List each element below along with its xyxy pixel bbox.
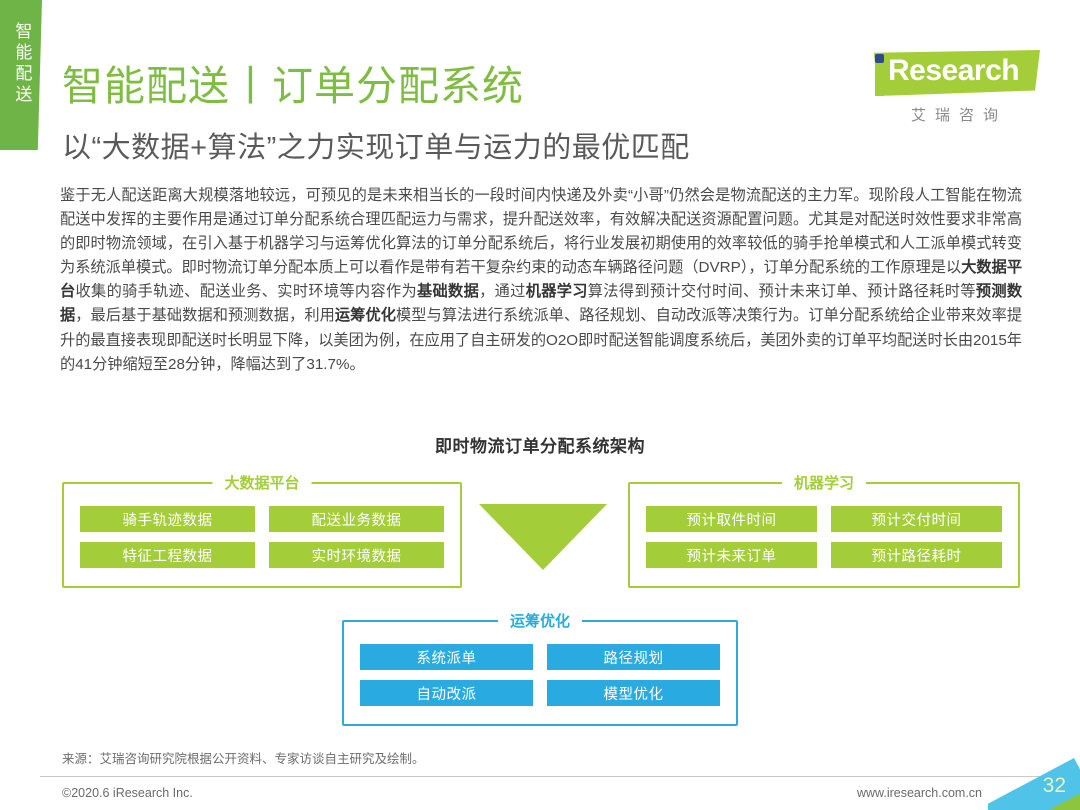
chip-item[interactable]: 模型优化 — [547, 680, 720, 706]
page-subtitle: 以“大数据+算法”之力实现订单与运力的最优匹配 — [62, 124, 690, 166]
logo-wordmark: Research — [888, 54, 1019, 88]
page-number: 32 — [1043, 774, 1066, 798]
iresearch-logo: Research 艾瑞咨询 — [844, 48, 1044, 125]
chip-item[interactable]: 实时环境数据 — [269, 542, 444, 568]
logo-mark: Research — [844, 48, 1040, 100]
chip-item[interactable]: 配送业务数据 — [269, 506, 444, 532]
chip-item[interactable]: 预计交付时间 — [831, 506, 1002, 532]
group-operations-optimization: 运筹优化 系统派单 路径规划 自动改派 模型优化 — [342, 620, 738, 726]
body-paragraph: 鉴于无人配送距离大规模落地较远，可预见的是未来相当长的一段时间内快递及外卖“小哥… — [60, 184, 1022, 377]
logo-letter-i-dot — [875, 54, 884, 63]
architecture-diagram: 大数据平台 骑手轨迹数据 配送业务数据 特征工程数据 实时环境数据 机器学习 预… — [0, 468, 1080, 740]
chip-item[interactable]: 自动改派 — [360, 680, 533, 706]
section-tab-label: 智能配送 — [12, 22, 31, 106]
chip-list-big-data-platform: 骑手轨迹数据 配送业务数据 特征工程数据 实时环境数据 — [80, 506, 444, 568]
footer-divider — [40, 776, 1040, 777]
logo-chinese-name: 艾瑞咨询 — [844, 104, 1044, 125]
down-arrow-icon — [479, 504, 607, 570]
chip-item[interactable]: 预计未来订单 — [646, 542, 817, 568]
group-label-machine-learning: 机器学习 — [782, 472, 866, 493]
chip-list-machine-learning: 预计取件时间 预计交付时间 预计未来订单 预计路径耗时 — [646, 506, 1002, 568]
chip-item[interactable]: 系统派单 — [360, 644, 533, 670]
chip-item[interactable]: 骑手轨迹数据 — [80, 506, 255, 532]
group-label-operations-optimization: 运筹优化 — [498, 610, 582, 631]
page-title: 智能配送丨订单分配系统 — [62, 52, 524, 112]
group-machine-learning: 机器学习 预计取件时间 预计交付时间 预计未来订单 预计路径耗时 — [628, 482, 1020, 588]
group-label-big-data-platform: 大数据平台 — [212, 472, 311, 493]
chip-item[interactable]: 特征工程数据 — [80, 542, 255, 568]
section-tab: 智能配送 — [0, 0, 42, 150]
source-note: 来源：艾瑞咨询研究院根据公开资料、专家访谈自主研究及绘制。 — [62, 748, 425, 767]
website-url[interactable]: www.iresearch.com.cn — [857, 786, 982, 800]
chip-item[interactable]: 路径规划 — [547, 644, 720, 670]
copyright-text: ©2020.6 iResearch Inc. — [62, 786, 193, 800]
corner-decoration — [988, 740, 1080, 810]
chip-item[interactable]: 预计取件时间 — [646, 506, 817, 532]
chip-list-operations-optimization: 系统派单 路径规划 自动改派 模型优化 — [360, 644, 720, 706]
group-big-data-platform: 大数据平台 骑手轨迹数据 配送业务数据 特征工程数据 实时环境数据 — [62, 482, 462, 588]
logo-letter-i-stem — [875, 67, 884, 96]
figure-title: 即时物流订单分配系统架构 — [0, 432, 1080, 457]
chip-item[interactable]: 预计路径耗时 — [831, 542, 1002, 568]
